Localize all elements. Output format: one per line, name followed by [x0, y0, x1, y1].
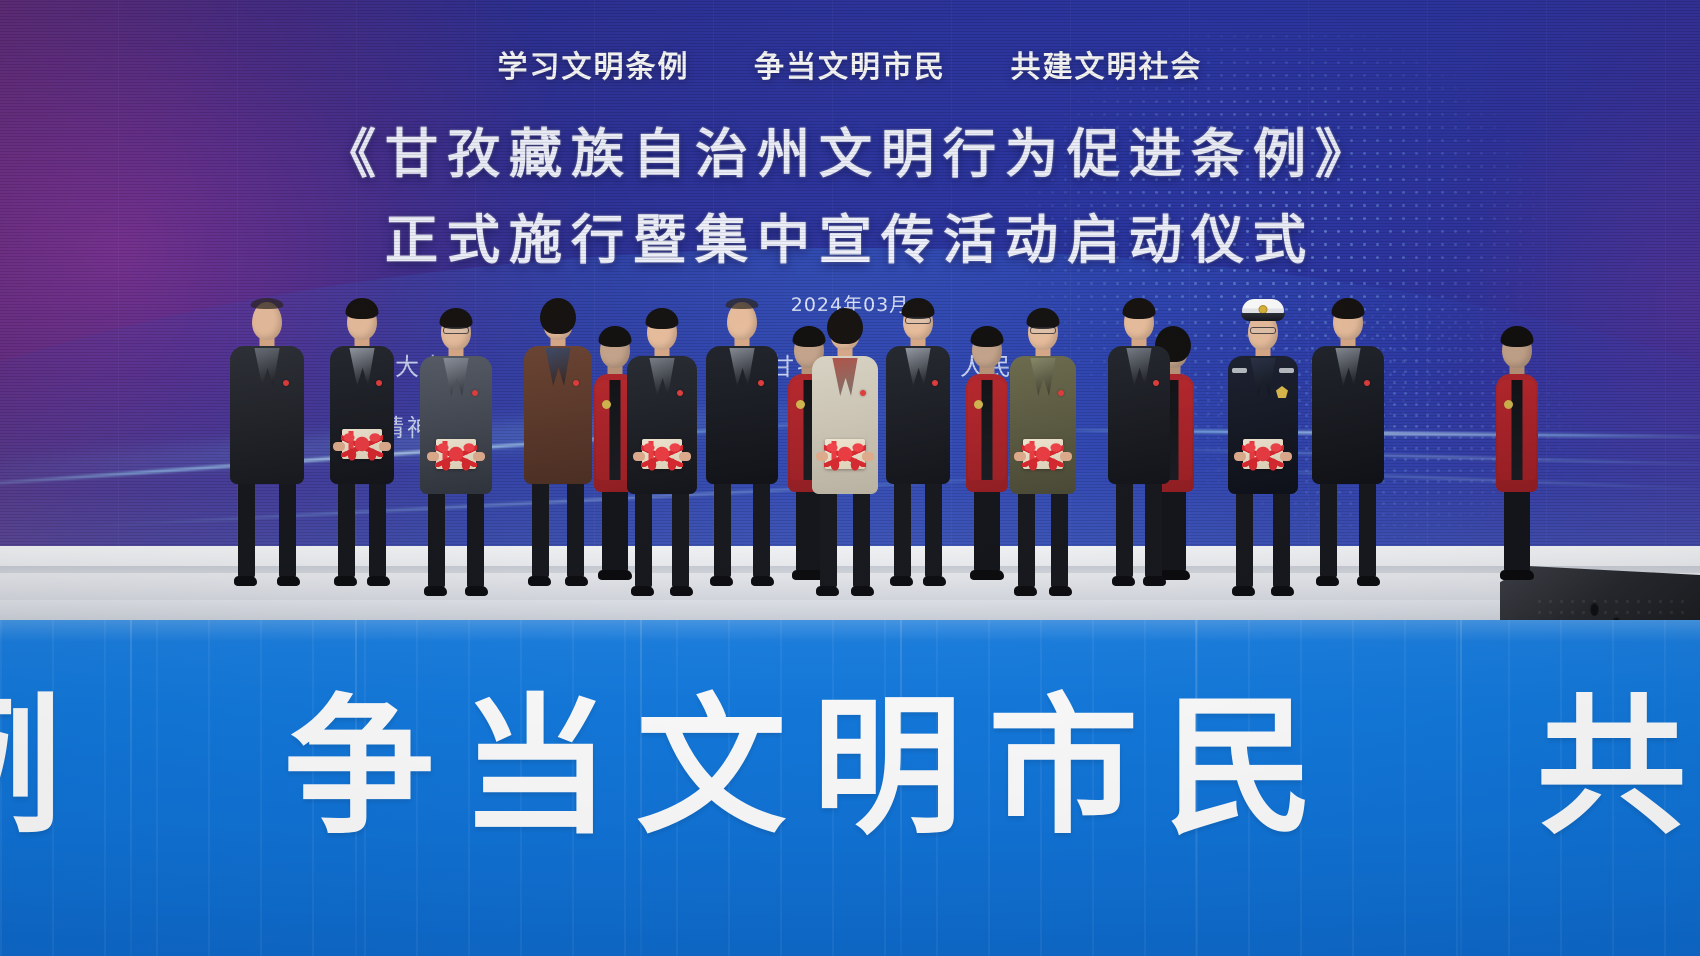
leg-right — [611, 486, 628, 572]
shoe-right — [923, 576, 946, 586]
leg-left — [820, 488, 837, 588]
leg-right — [983, 486, 1000, 572]
lapel-pin-icon — [1058, 390, 1064, 396]
hair — [971, 326, 1004, 347]
leg-right — [1051, 488, 1068, 588]
legs — [633, 488, 691, 588]
hands-holding — [816, 452, 828, 461]
epaulette-right — [1279, 368, 1294, 373]
lapel-pin-icon — [860, 390, 866, 396]
shoe-right — [1357, 576, 1380, 586]
legs — [1502, 486, 1532, 572]
banner-segment-left: 例 — [0, 668, 88, 868]
person-16-official — [1312, 0, 1384, 560]
leg-right — [925, 478, 942, 578]
hair — [827, 308, 863, 344]
banner-segment-center: 争当文明市民 — [284, 668, 1340, 868]
leg-left — [428, 488, 445, 588]
certificate-with-ribbon — [1243, 439, 1283, 469]
shoe-left — [890, 576, 913, 586]
certificate-with-ribbon — [825, 439, 865, 469]
hands-holding — [1234, 452, 1246, 461]
hands-holding-right — [473, 452, 485, 461]
legs — [426, 488, 486, 588]
legs — [336, 478, 388, 578]
person-9-awardee — [812, 0, 878, 560]
hands-holding-right — [379, 442, 391, 451]
shoe-right — [851, 586, 874, 596]
leg-right — [1169, 486, 1186, 572]
hands-holding — [333, 442, 345, 451]
volunteer-vest — [1498, 380, 1536, 480]
person-13-awardee — [1108, 0, 1170, 560]
person-17-volunteer — [1496, 0, 1538, 560]
legs — [972, 486, 1002, 572]
leg-left — [1116, 478, 1133, 578]
legs — [1016, 488, 1070, 588]
leg-right — [279, 478, 296, 578]
hands-holding-right — [862, 452, 874, 461]
glasses-icon — [905, 317, 931, 324]
shoe-right — [565, 576, 588, 586]
hands-holding — [633, 452, 645, 461]
hair — [1332, 298, 1365, 319]
hair — [1501, 326, 1534, 347]
shoe-right — [465, 586, 488, 596]
person-3-awardee — [420, 0, 492, 560]
police-cap-icon — [1242, 299, 1284, 315]
shoe-right — [751, 576, 774, 586]
leg-right — [1273, 488, 1290, 588]
photo-scene: 学习文明条例 争当文明市民 共建文明社会 《甘孜藏族自治州文明行为促进条例》 正… — [0, 0, 1700, 956]
shoe-right — [1143, 576, 1166, 586]
leg-left — [1320, 478, 1337, 578]
lapel-pin-icon — [1153, 380, 1159, 386]
glasses-icon — [1030, 327, 1056, 334]
person-15-police — [1228, 0, 1298, 560]
legs — [1318, 478, 1378, 578]
epaulette-left — [1232, 368, 1247, 373]
shoe-left — [1112, 576, 1135, 586]
cap-emblem-icon — [1259, 305, 1268, 314]
volunteer-vest — [968, 380, 1006, 480]
lapel-pin-icon — [1364, 380, 1370, 386]
glasses-icon — [443, 327, 469, 334]
leg-left — [238, 478, 255, 578]
leg-right — [853, 488, 870, 588]
leg-right — [672, 488, 689, 588]
leg-right — [467, 488, 484, 588]
hair — [1123, 298, 1156, 319]
hair — [251, 298, 284, 309]
certificate-with-ribbon — [642, 439, 682, 469]
lapel-pin-icon — [573, 380, 579, 386]
certificate-with-ribbon — [436, 439, 476, 469]
hair — [440, 308, 473, 329]
leg-left — [894, 478, 911, 578]
leg-right — [1359, 478, 1376, 578]
leg-left — [532, 478, 549, 578]
legs — [530, 478, 586, 578]
legs — [712, 478, 772, 578]
shoe-left — [816, 586, 839, 596]
leg-left — [714, 478, 731, 578]
banner-segment-right: 共 — [1537, 668, 1700, 868]
person-12-awardee — [1010, 0, 1076, 560]
hands-holding-right — [679, 452, 691, 461]
shoe-right — [609, 570, 632, 580]
leg-right — [369, 478, 386, 578]
shoe-right — [1049, 586, 1072, 596]
bottom-blue-banner: 例 争当文明市民 共 — [0, 620, 1700, 956]
person-1-official — [230, 0, 304, 560]
leg-right — [1145, 478, 1162, 578]
hair — [646, 308, 679, 329]
legs — [1114, 478, 1164, 578]
shoe-right — [1271, 586, 1294, 596]
certificate-with-ribbon — [1023, 439, 1063, 469]
legs — [818, 488, 872, 588]
leg-left — [338, 478, 355, 578]
shoe-left — [528, 576, 551, 586]
shoe-right — [1511, 570, 1534, 580]
shoe-right — [367, 576, 390, 586]
person-4-awardee — [524, 0, 592, 560]
shoe-right — [670, 586, 693, 596]
person-11-volunteer — [966, 0, 1008, 560]
leg-right — [567, 478, 584, 578]
hands-holding-right — [1060, 452, 1072, 461]
shoe-left — [1232, 586, 1255, 596]
shoe-right — [1167, 570, 1190, 580]
hair — [902, 298, 935, 319]
shoe-right — [981, 570, 1004, 580]
hands-holding — [1014, 452, 1026, 461]
leg-left — [1018, 488, 1035, 588]
legs — [600, 486, 630, 572]
shoe-left — [334, 576, 357, 586]
person-2-awardee — [330, 0, 394, 560]
person-7-official — [706, 0, 778, 560]
leg-left — [635, 488, 652, 588]
speaker-port-1 — [1590, 602, 1599, 616]
leg-right — [1513, 486, 1530, 572]
hair — [540, 298, 576, 334]
glasses-icon — [1250, 327, 1276, 334]
lapel-pin-icon — [758, 380, 764, 386]
legs — [1234, 488, 1292, 588]
shoe-left — [424, 586, 447, 596]
shoe-left — [1014, 586, 1037, 596]
shoe-left — [234, 576, 257, 586]
shoe-left — [1316, 576, 1339, 586]
certificate-with-ribbon — [342, 429, 382, 459]
shoe-left — [631, 586, 654, 596]
person-6-awardee — [627, 0, 697, 560]
light-streak-4 — [1120, 447, 1700, 467]
hands-holding-right — [1280, 452, 1292, 461]
leg-left — [1236, 488, 1253, 588]
hair — [346, 298, 379, 319]
banner-text-row: 例 争当文明市民 共 — [0, 668, 1700, 868]
hair — [726, 298, 759, 309]
hands-holding — [427, 452, 439, 461]
person-10-official — [886, 0, 950, 560]
shoe-right — [277, 576, 300, 586]
leg-right — [753, 478, 770, 578]
legs — [236, 478, 298, 578]
legs — [892, 478, 944, 578]
lapel-pin-icon — [472, 390, 478, 396]
shoe-left — [710, 576, 733, 586]
hair — [1027, 308, 1060, 329]
